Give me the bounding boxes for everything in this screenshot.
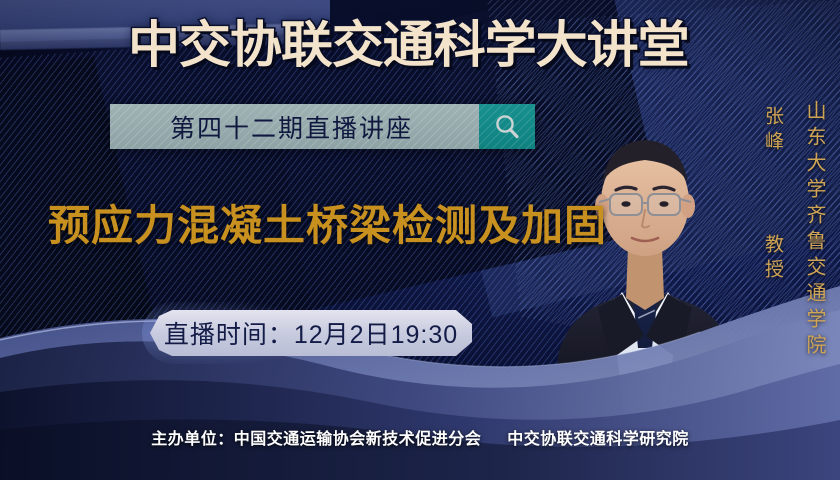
footer-organizer-1: 中国交通运输协会新技术促进分会 — [234, 431, 482, 448]
speaker-title: 教授 — [762, 234, 784, 284]
search-icon[interactable] — [479, 104, 535, 149]
footer-prefix: 主办单位： — [151, 431, 234, 448]
speaker-name: 张峰 — [762, 106, 784, 156]
footer-organizers: 主办单位：中国交通运输协会新技术促进分会中交协联交通科学研究院 — [0, 425, 840, 449]
footer-organizer-2: 中交协联交通科学研究院 — [507, 431, 689, 448]
speaker-organization: 山东大学齐鲁交通学院 — [801, 100, 830, 360]
series-label: 第四十二期直播讲座 — [110, 104, 479, 149]
schedule-badge: 直播时间：12月2日19:30 — [150, 310, 472, 356]
series-bar: 第四十二期直播讲座 — [110, 104, 535, 149]
speaker-info: 山东大学齐鲁交通学院 张峰 教授 — [760, 100, 830, 360]
page-title: 中交协联交通科学大讲堂 — [128, 18, 689, 72]
lecture-title: 预应力混凝土桥梁检测及加固 — [48, 192, 607, 253]
live-lecture-poster: 中交协联交通科学大讲堂 第四十二期直播讲座 预应力混凝土桥梁检测及加固 直播时间… — [0, 0, 840, 480]
speaker-name-title: 张峰 教授 — [760, 100, 787, 284]
